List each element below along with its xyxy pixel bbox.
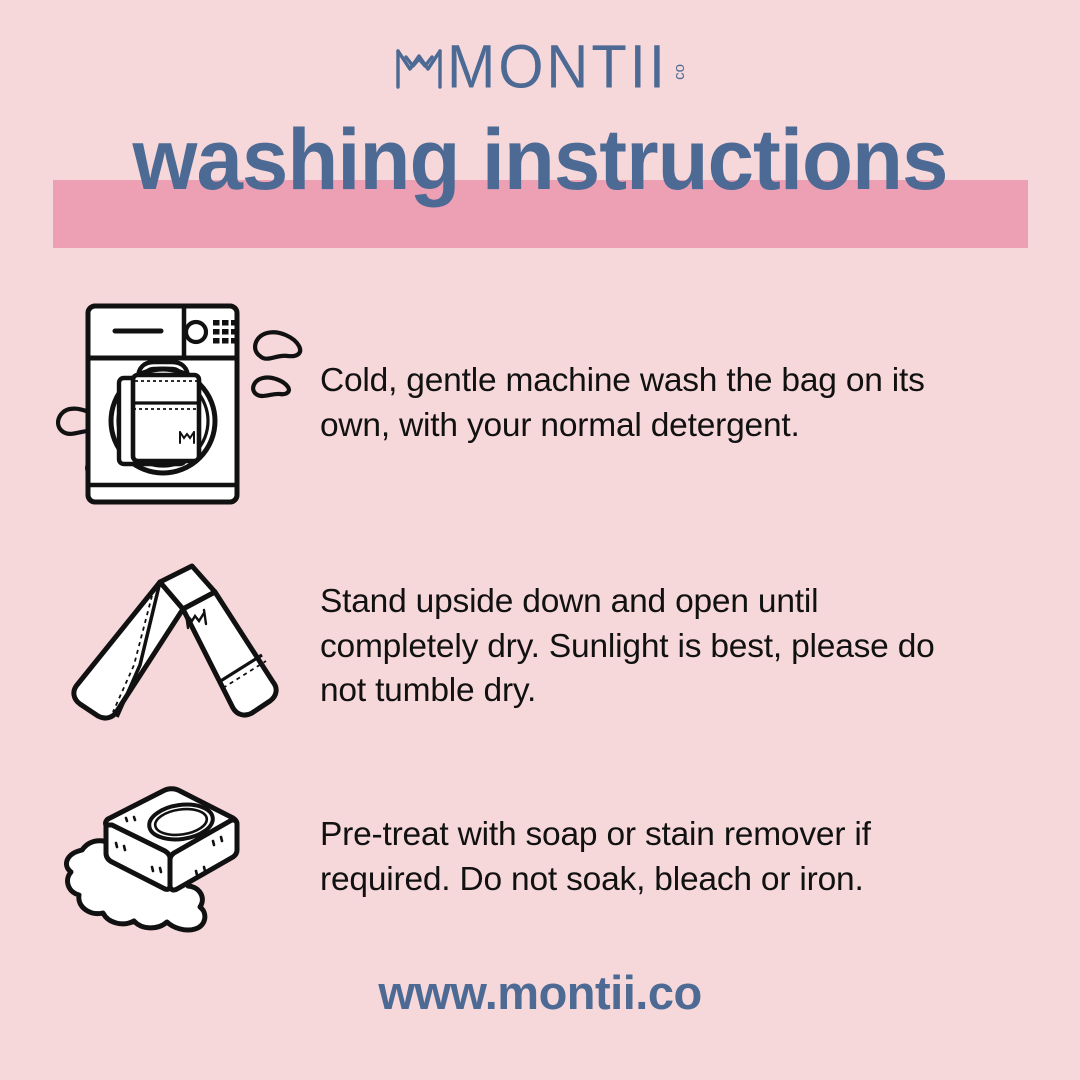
- soap-bar-icon: [20, 775, 320, 940]
- brand-logo: MONTII co: [0, 40, 1080, 94]
- instruction-row-wash: Cold, gentle machine wash the bag on its…: [20, 288, 980, 520]
- page-title: washing instructions: [16, 117, 1064, 203]
- upside-down-open-bag-icon: [20, 552, 320, 742]
- instruction-text-wash: Cold, gentle machine wash the bag on its…: [320, 359, 980, 448]
- instruction-row-dry: Stand upside down and open until complet…: [20, 552, 980, 742]
- montii-chevron-mark-icon: [393, 40, 447, 94]
- instruction-text-pretreat: Pre-treat with soap or stain remover if …: [320, 813, 980, 902]
- brand-suffix: co: [672, 64, 687, 80]
- instruction-row-pretreat: Pre-treat with soap or stain remover if …: [20, 775, 980, 940]
- website-url[interactable]: www.montii.co: [0, 965, 1080, 1020]
- instruction-text-dry: Stand upside down and open until complet…: [320, 580, 980, 714]
- brand-wordmark: MONTII: [447, 40, 668, 95]
- poster-canvas: MONTII co washing instructions: [0, 0, 1080, 1080]
- washing-machine-icon: [20, 288, 320, 520]
